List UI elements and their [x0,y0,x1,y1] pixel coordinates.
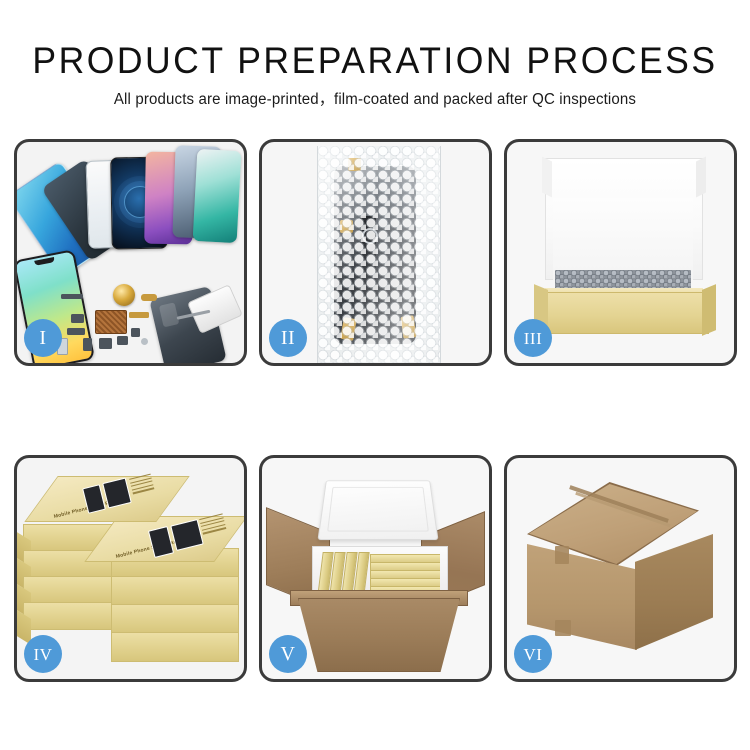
carton-tape-lower [555,620,571,636]
carton-front-face [298,598,460,672]
plastic-sheen [318,146,440,363]
screw-part [141,338,148,345]
page-title: PRODUCT PREPARATION PROCESS [15,0,735,82]
step-badge-1: I [24,319,62,357]
step-panel-4: Mobile Phone Spare Parts Mobile Phone Sp… [14,455,247,682]
stacked-box-r-2 [111,576,239,606]
step-panel-2: II [259,139,492,366]
step-badge-4: IV [24,635,62,673]
foam-box-lid [317,480,438,540]
step-badge-6: VI [514,635,552,673]
small-part-3 [67,328,85,335]
step-badge-3: III [514,319,552,357]
small-part-1 [61,294,83,299]
teal-phone-image [193,149,242,243]
stacked-box-r-4 [111,632,239,662]
header: PRODUCT PREPARATION PROCESS All products… [0,0,750,110]
phone-notch [34,257,55,266]
small-part-4 [83,338,92,351]
yellow-box-tray [541,292,709,334]
step-panel-5: V [259,455,492,682]
step-badge-2: II [269,319,307,357]
bubble-wrap-bag [317,146,441,363]
small-part-6 [117,336,128,345]
speaker-coil-part [113,284,135,306]
step-badge-5: V [269,635,307,673]
box-side [17,605,31,645]
carton-tape-upper [555,546,569,564]
small-part-5 [99,338,112,349]
process-steps-grid: I II [14,139,736,682]
step-panel-6: VI [504,455,737,682]
stacked-box-r-3 [111,604,239,634]
small-part-2 [71,314,84,323]
stacked-box-bl-4 [23,602,121,630]
white-foam-liner [553,198,693,280]
step-panel-3: III [504,139,737,366]
stacked-box-bl-3 [23,576,121,604]
product-preparation-infographic: PRODUCT PREPARATION PROCESS All products… [0,0,750,750]
yellow-boxes-inside [318,552,440,594]
gold-connector-part [141,294,157,301]
logic-board-part [95,310,127,334]
carton-right-face [635,534,713,650]
step-panel-1: I [14,139,247,366]
flex-cable-part [129,312,149,318]
page-subtitle: All products are image-printed，film-coat… [11,82,739,110]
small-part-7 [131,328,140,337]
